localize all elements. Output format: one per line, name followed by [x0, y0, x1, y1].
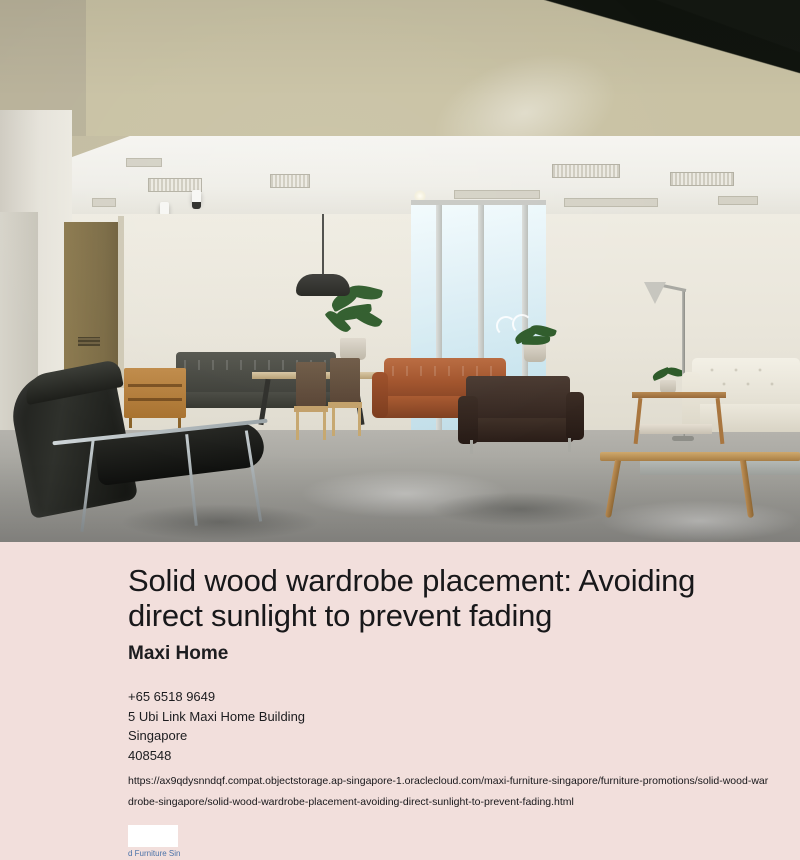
- contact-phone[interactable]: +65 6518 9649: [128, 687, 800, 707]
- pendant-lamp-cord: [322, 214, 324, 276]
- dining-chair: [296, 362, 326, 406]
- armchair-leg: [470, 440, 473, 454]
- plant-pot: [340, 338, 366, 360]
- page-title: Solid wood wardrobe placement: Avoiding …: [0, 542, 800, 633]
- article-content: Solid wood wardrobe placement: Avoiding …: [0, 542, 800, 860]
- plant-pot: [524, 342, 546, 362]
- pendant-lamp-shade: [296, 274, 350, 296]
- armchair-seat: [462, 418, 574, 442]
- door-vent: [78, 337, 100, 346]
- floor-shadow: [430, 492, 610, 526]
- door-frame: [118, 216, 124, 388]
- dining-chair-leg: [358, 408, 361, 436]
- ceiling-air-grille: [270, 174, 310, 188]
- dining-chair-leg: [296, 412, 299, 440]
- floor-lamp-shade: [644, 282, 666, 304]
- ceiling-slot: [92, 198, 116, 207]
- cabinet-leg: [178, 418, 181, 428]
- source-url-text-continued[interactable]: drobe-singapore/solid-wood-wardrobe-plac…: [128, 792, 800, 813]
- thumbnail-caption[interactable]: d Furniture Singapore: [128, 848, 180, 860]
- wooden-door: [64, 222, 124, 382]
- contact-details: +65 6518 9649 5 Ubi Link Maxi Home Build…: [0, 687, 800, 765]
- floor-reflection: [600, 500, 800, 542]
- side-table-top: [632, 392, 726, 398]
- armchair-leg: [568, 438, 571, 452]
- floor-shadow: [120, 504, 320, 540]
- dining-chair-leg: [332, 408, 335, 436]
- ceiling-slot: [718, 196, 758, 205]
- armchair-arm: [566, 392, 584, 440]
- cabinet-leg: [129, 418, 132, 428]
- coffee-table-glass: [640, 461, 800, 475]
- coffee-table-top: [600, 452, 800, 461]
- ceiling-slot: [564, 198, 658, 207]
- tan-sofa-arm: [372, 372, 388, 418]
- dining-chair-leg: [323, 412, 326, 440]
- brown-leather-armchair: [466, 376, 570, 422]
- track-spotlight: [192, 190, 201, 203]
- brand-name: Maxi Home: [0, 643, 800, 665]
- source-url[interactable]: https://ax9qdysnndqf.compat.objectstorag…: [0, 765, 800, 813]
- sofa-tufting: [392, 366, 498, 376]
- armchair-arm: [458, 396, 478, 444]
- ceiling-slot: [126, 158, 162, 167]
- source-url-text[interactable]: https://ax9qdysnndqf.compat.objectstorag…: [128, 771, 800, 792]
- floor-lamp-base: [672, 436, 694, 441]
- wood-cabinet: [124, 368, 186, 418]
- showroom-photo: [0, 0, 800, 542]
- thumbnail-block[interactable]: d Furniture Singapore: [0, 813, 800, 860]
- dining-chair: [330, 358, 360, 402]
- contact-postal: 408548: [128, 746, 800, 766]
- cabinet-drawer: [128, 384, 182, 387]
- cabinet-drawer: [128, 398, 182, 401]
- side-table-shelf: [640, 424, 712, 434]
- ceiling-air-grille: [552, 164, 620, 178]
- white-sofa-arm: [682, 372, 700, 430]
- contact-street: 5 Ubi Link Maxi Home Building: [128, 707, 800, 727]
- white-tufted-sofa: [692, 358, 800, 406]
- ceiling-air-grille: [670, 172, 734, 186]
- thumbnail-image[interactable]: [128, 825, 178, 847]
- contact-country: Singapore: [128, 726, 800, 746]
- hero-image: [0, 0, 800, 542]
- ceiling-slot: [454, 190, 540, 199]
